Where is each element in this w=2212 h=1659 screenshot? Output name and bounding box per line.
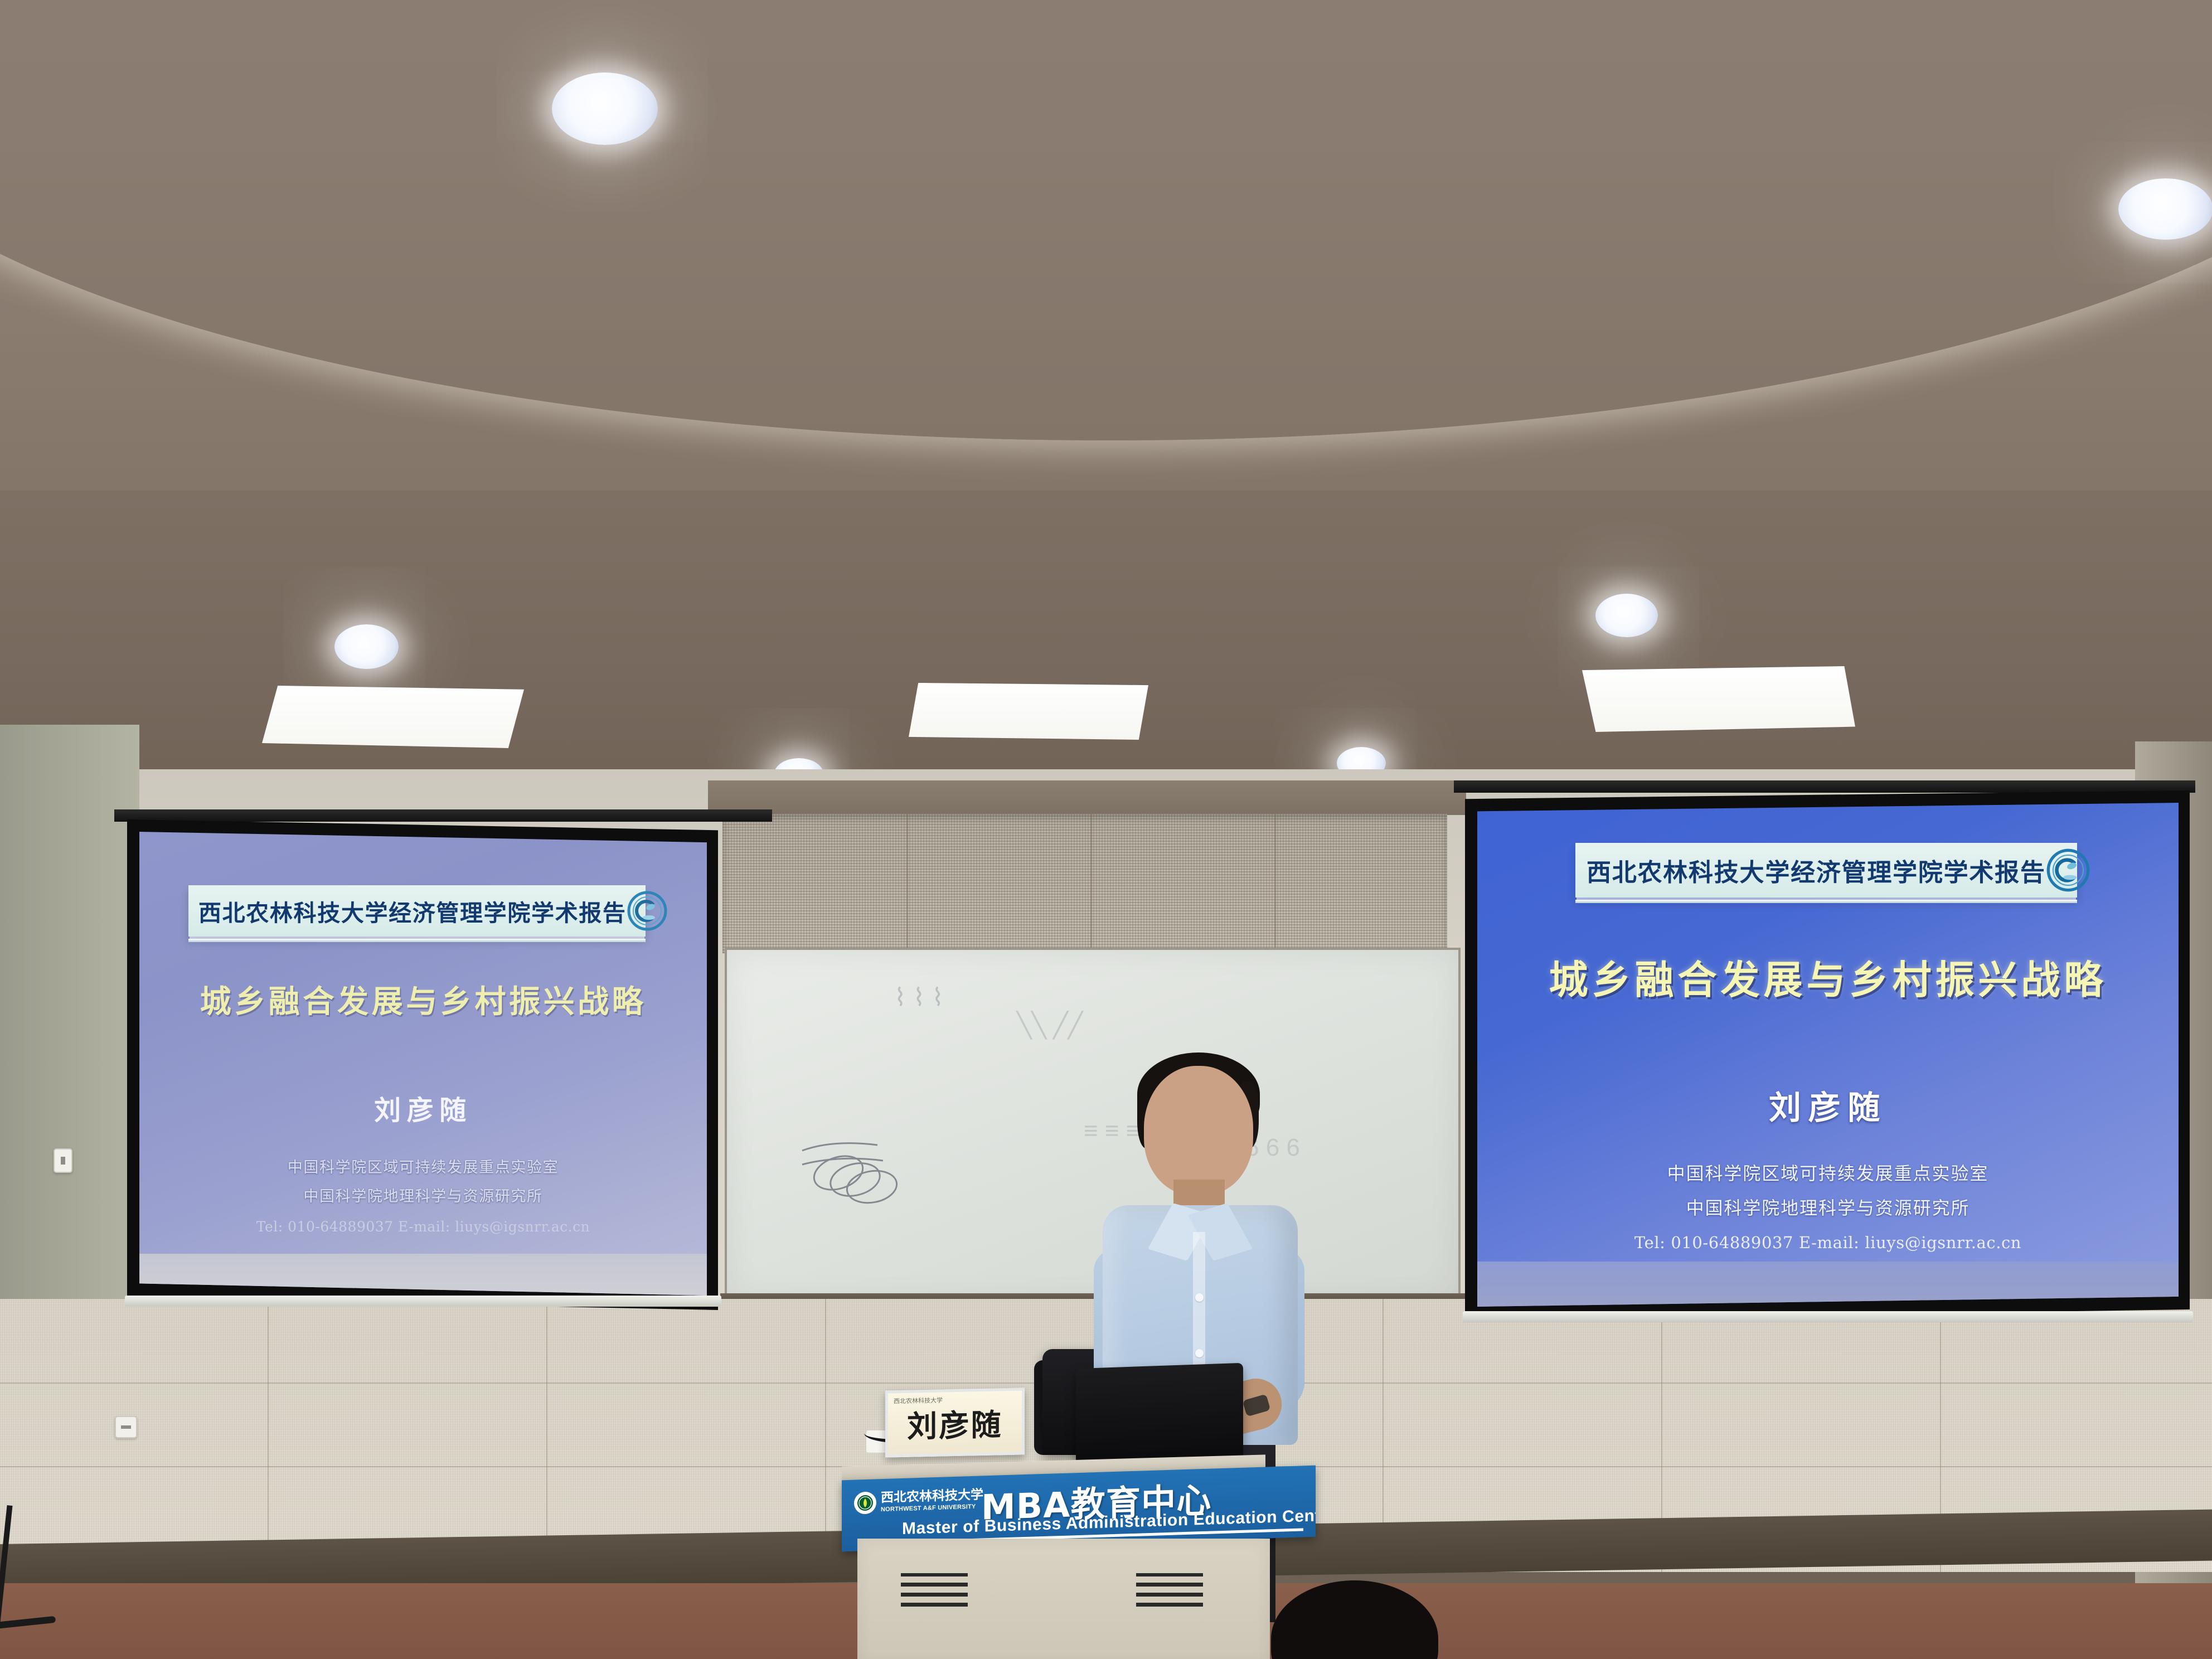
slide-banner: 西北农林科技大学经济管理学院学术报告 — [188, 885, 646, 937]
slide-main-title: 城乡融合发展与乡村振兴战略 — [139, 977, 707, 1022]
left-projection-slide: 西北农林科技大学经济管理学院学术报告 城乡融合发展与乡村振兴战略 刘彦随 中国科… — [139, 832, 707, 1296]
university-crest-icon — [854, 1492, 876, 1515]
university-logo: 西北农林科技大学 NORTHWEST A&F UNIVERSITY — [854, 1488, 983, 1515]
slide-affiliation-2: 中国科学院地理科学与资源研究所 — [139, 1184, 707, 1206]
podium-front-panel — [857, 1539, 1270, 1659]
ceiling-downlight-2 — [2118, 178, 2212, 240]
slide-contact: Tel: 010-64889037 E-mail: liuys@igsnrr.a… — [1477, 1233, 2179, 1252]
right-screen-roller — [1454, 780, 2195, 793]
slide-banner: 西北农林科技大学经济管理学院学术报告 — [1575, 843, 2077, 898]
lecture-hall-photo: ⌇ ⌇ ⌇ ╲╲ ╱╱ ≡ ≡ ≡ 6 6 6 — [0, 0, 2212, 1659]
right-screen-weight-bar — [1463, 1311, 2193, 1322]
right-projection-slide: 西北农林科技大学经济管理学院学术报告 城乡融合发展与乡村振兴战略 刘彦随 中国科… — [1477, 803, 2179, 1307]
ceiling-downlight-3 — [334, 624, 399, 669]
ceiling-downlight-1 — [552, 72, 658, 145]
name-card-org-mark: 西北农林科技大学 — [894, 1395, 943, 1405]
slide-contact: Tel: 010-64889037 E-mail: liuys@igsnrr.a… — [139, 1219, 707, 1235]
slide-affiliation-1: 中国科学院区域可持续发展重点实验室 — [139, 1155, 707, 1177]
institution-seal-logo-icon — [2046, 848, 2090, 892]
slide-banner-text: 西北农林科技大学经济管理学院学术报告 — [1587, 852, 2046, 888]
presenter-name-card: 西北农林科技大学 刘彦随 — [885, 1388, 1025, 1457]
presenter-head — [1144, 1066, 1253, 1195]
university-name-en: NORTHWEST A&F UNIVERSITY — [881, 1503, 976, 1513]
whiteboard-scribble-icon — [799, 1134, 928, 1223]
slide-affiliation-1: 中国科学院区域可持续发展重点实验室 — [1477, 1160, 2179, 1185]
podium: 西北农林科技大学 刘彦随 西北农林科技大学 NORTHWEST A&F UNIV… — [842, 1461, 1265, 1659]
left-screen-weight-bar — [125, 1296, 721, 1307]
whiteboard-soffit — [708, 780, 1466, 815]
slide-main-title: 城乡融合发展与乡村振兴战略 — [1477, 949, 2179, 1005]
ceiling-downlight-6 — [1595, 594, 1658, 637]
podium-vent-left — [901, 1573, 968, 1607]
ceiling-led-panel-left — [262, 686, 524, 748]
left-screen-roller — [114, 809, 772, 822]
slide-presenter-name: 刘彦随 — [139, 1088, 707, 1127]
podium-monitor[interactable] — [1076, 1363, 1243, 1469]
ceiling-led-panel-center — [909, 683, 1148, 740]
podium-vent-right — [1136, 1573, 1203, 1607]
name-card-name: 刘彦随 — [907, 1400, 1003, 1446]
slide-banner-text: 西北农林科技大学经济管理学院学术报告 — [198, 894, 627, 928]
slide-affiliation-2: 中国科学院地理科学与资源研究所 — [1477, 1194, 2179, 1220]
university-name-cn: 西北农林科技大学 — [881, 1487, 983, 1505]
institution-seal-logo-icon — [627, 890, 668, 932]
wall-outlet-left[interactable] — [115, 1416, 137, 1438]
slide-presenter-name: 刘彦随 — [1477, 1081, 2179, 1128]
acoustic-wall-panel — [722, 814, 1447, 953]
wall-switch-left[interactable] — [54, 1148, 72, 1173]
ceiling-led-panel-right — [1582, 666, 1855, 732]
